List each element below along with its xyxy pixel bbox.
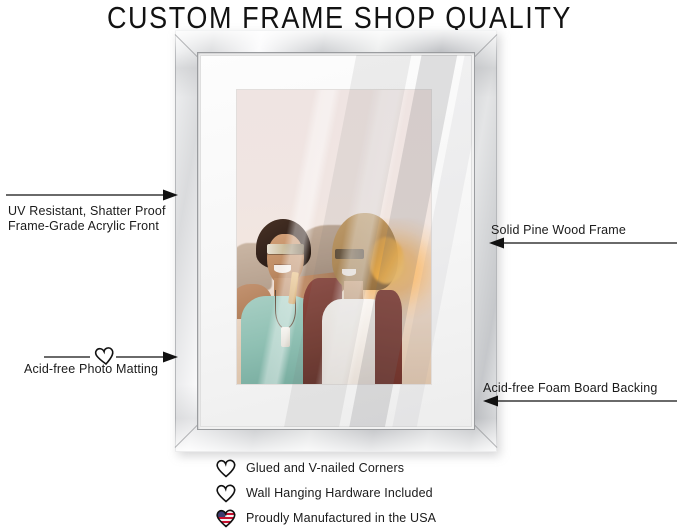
annotation-photo-matting: Acid-free Photo Matting [24,362,194,377]
annotation-acrylic-front-line1: UV Resistant, Shatter Proof [8,204,188,219]
photo-mat [200,55,472,427]
picture-frame [175,30,497,452]
feature-item-corners: Glued and V-nailed Corners [215,455,555,480]
photo-woman-hair-sunlight [369,237,404,284]
feature-item-usa: Proudly Manufactured in the USA [215,505,555,530]
photo-woman-jacket-right [375,290,402,384]
annotation-photo-matting-line1: Acid-free Photo Matting [24,362,194,377]
miter-seam-bottom-right [473,423,498,448]
product-infographic: CUSTOM FRAME SHOP QUALITY [0,0,679,530]
miter-seam-bottom-left [175,423,200,448]
feature-item-usa-label: Proudly Manufactured in the USA [246,511,436,525]
arrow-right-acrylic-front [6,188,178,202]
arrow-left-foam-backing [483,394,677,408]
framed-photo [237,90,431,384]
photo-man-smile [274,265,291,273]
mat-window [237,90,431,384]
photo-man-pendant [281,327,291,348]
miter-seam-top-right [473,34,498,59]
miter-seam-top-left [175,34,200,59]
feature-item-corners-label: Glued and V-nailed Corners [246,461,404,475]
annotation-acrylic-front: UV Resistant, Shatter Proof Frame-Grade … [8,204,188,233]
feature-list: Glued and V-nailed Corners Wall Hanging … [215,455,555,530]
photo-woman-sunglasses [335,249,364,260]
photo-man-sunglasses [267,244,304,254]
heart-usa-flag-icon [215,508,237,528]
arrow-left-pine-frame [489,236,677,250]
heart-icon [215,458,237,478]
feature-item-hardware: Wall Hanging Hardware Included [215,480,555,505]
feature-item-hardware-label: Wall Hanging Hardware Included [246,486,433,500]
heart-icon [215,483,237,503]
annotation-acrylic-front-line2: Frame-Grade Acrylic Front [8,219,188,234]
